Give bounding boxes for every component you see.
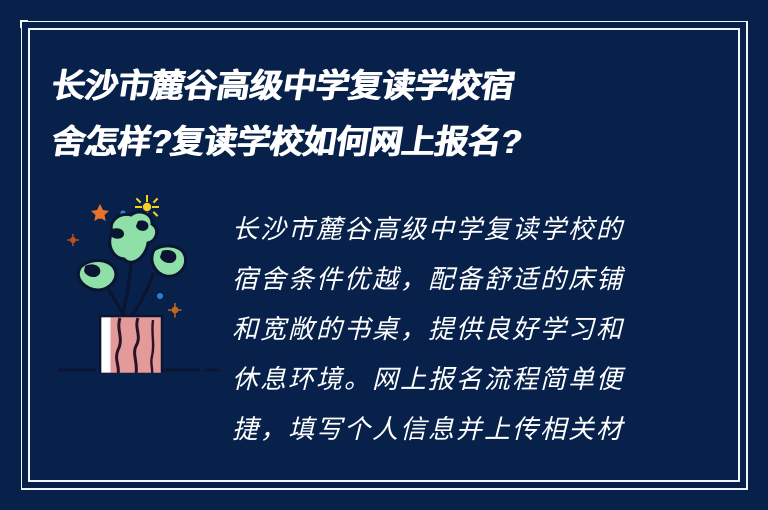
body-line-4: 休息环境。网上报名流程简单便 (232, 355, 662, 405)
page-title-line-2: 舍怎样?复读学校如何网上报名? (48, 114, 657, 170)
sparkle-small-orange-left (67, 234, 79, 246)
sparkle-small-orange-right (168, 303, 182, 318)
flower-pot-cracked (100, 316, 162, 373)
potted-plant-illustration (58, 188, 223, 373)
body-line-2: 宿舍条件优越，配备舒适的床铺 (232, 255, 662, 305)
page-title: 长沙市麓谷高级中学复读学校宿 舍怎样?复读学校如何网上报名? (52, 58, 652, 170)
leaf-right (152, 246, 186, 276)
frame-mask-bottom-left (0, 28, 21, 510)
page-title-line-1: 长沙市麓谷高级中学复读学校宿 (48, 58, 657, 114)
body-paragraph: 长沙市麓谷高级中学复读学校的 宿舍条件优越，配备舒适的床铺 和宽敞的书桌，提供良… (232, 205, 662, 455)
body-line-5: 捷，填写个人信息并上传相关材 (232, 405, 662, 455)
sparkle-orange-star (91, 204, 109, 221)
sparkle-blue-dot-right (157, 293, 163, 299)
frame-mask-top-right (28, 0, 768, 21)
poster-canvas: 长沙市麓谷高级中学复读学校宿 舍怎样?复读学校如何网上报名? (0, 0, 768, 510)
leaf-left (78, 261, 115, 291)
body-line-3: 和宽敞的书桌，提供良好学习和 (232, 305, 662, 355)
leaf-large (110, 212, 157, 262)
body-line-1: 长沙市麓谷高级中学复读学校的 (232, 205, 662, 255)
